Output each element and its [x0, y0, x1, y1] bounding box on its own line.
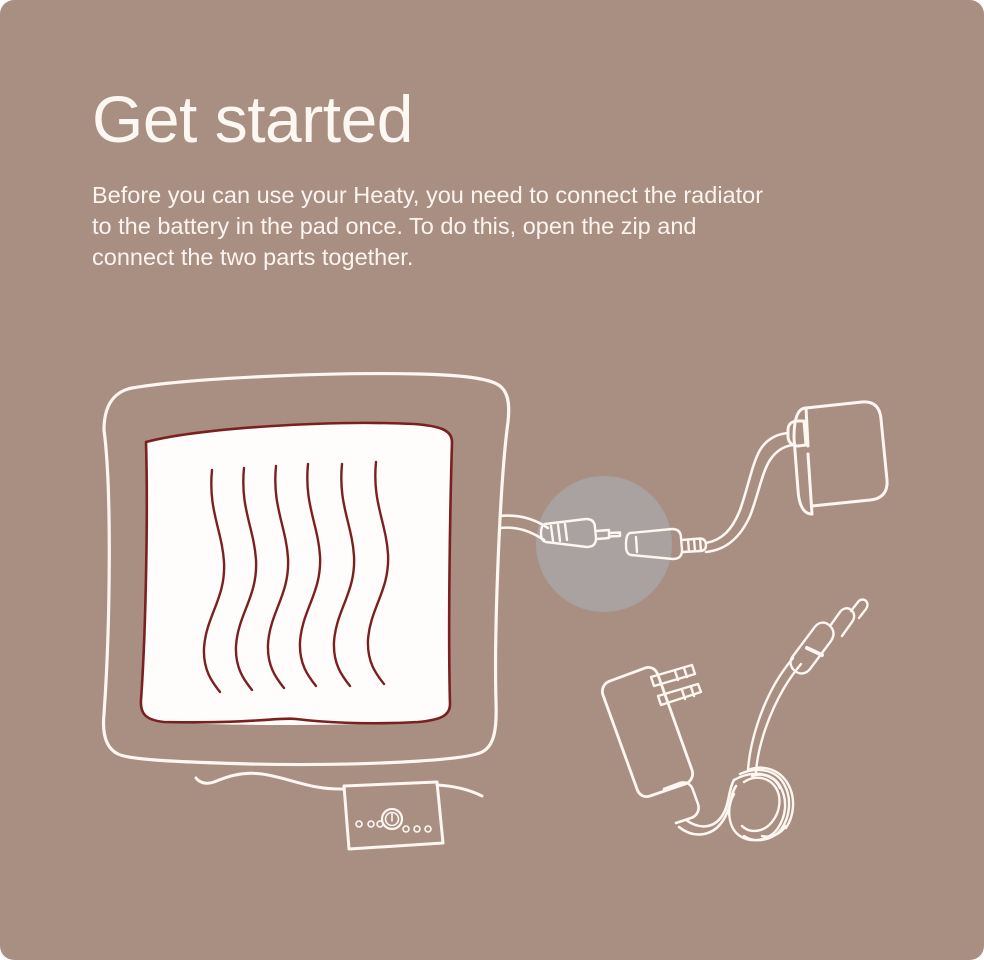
battery-module-edge-right: [437, 785, 482, 796]
battery-led-indicators-right: [403, 826, 431, 832]
adapter-coiled-cable: [729, 768, 793, 840]
page-title: Get started: [92, 86, 792, 152]
adapter-mains-prongs: [651, 665, 701, 705]
battery-module-flap: [196, 773, 344, 789]
radiator-cable: [706, 433, 793, 552]
get-started-screen: Get started Before you can use your Heat…: [0, 0, 984, 960]
adapter-barrel-plug[interactable]: [791, 600, 868, 674]
battery-module: [344, 782, 443, 849]
radiator: [788, 402, 887, 514]
heaty-setup-illustration: [0, 330, 984, 930]
power-adapter: [602, 667, 692, 796]
page-body-text: Before you can use your Heaty, you need …: [92, 152, 782, 273]
adapter-plug-cable: [748, 658, 801, 772]
heating-pad: [141, 423, 452, 725]
battery-led-indicators-left: [356, 821, 383, 827]
text-block: Get started Before you can use your Heat…: [92, 86, 792, 273]
power-button-icon[interactable]: [382, 809, 402, 829]
